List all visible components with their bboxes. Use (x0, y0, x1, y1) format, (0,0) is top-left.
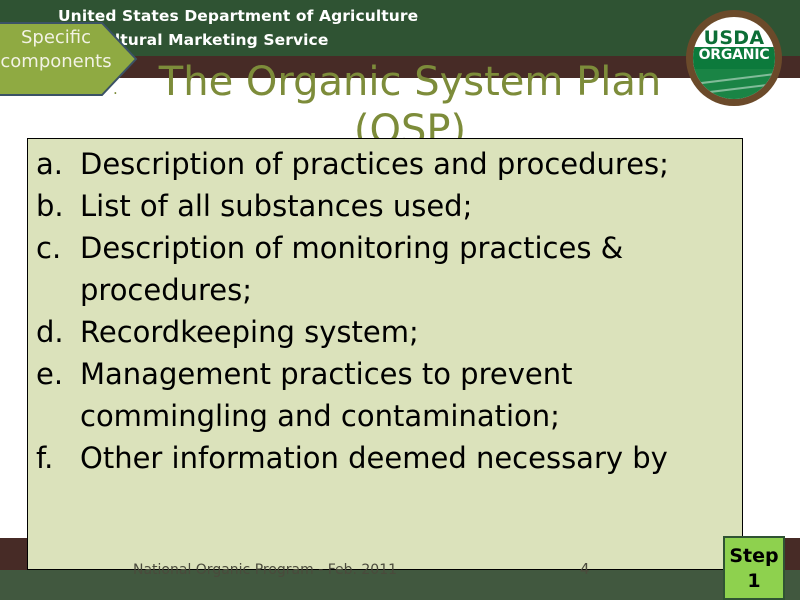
list-marker: b. (36, 185, 80, 227)
seal-inner: USDA ORGANIC (693, 17, 775, 99)
usda-organic-seal-icon: USDA ORGANIC (686, 10, 782, 106)
list-item: e. Management practices to prevent commi… (36, 353, 743, 437)
list-marker: c. (36, 227, 80, 269)
list-marker: a. (36, 143, 80, 185)
list-item: b. List of all substances used; (36, 185, 743, 227)
list-item: d. Recordkeeping system; (36, 311, 743, 353)
agency-line-1: United States Department of Agriculture (58, 4, 678, 28)
list-item-text: List of all substances used; (80, 185, 743, 227)
content-box: a. Description of practices and procedur… (27, 138, 743, 570)
specific-components-callout: Specific components (0, 22, 138, 96)
list-item-text: Other information deemed necessary by (80, 437, 743, 479)
page-title-line-1: The Organic System Plan (110, 58, 710, 106)
osp-components-list: a. Description of practices and procedur… (36, 143, 743, 479)
list-item-text: Description of monitoring practices & pr… (80, 227, 743, 311)
list-marker: d. (36, 311, 80, 353)
step-badge: Step 1 (723, 536, 785, 600)
callout-label: Specific components (0, 26, 120, 74)
list-item: c. Description of monitoring practices &… (36, 227, 743, 311)
seal-usda-text: USDA (693, 27, 775, 49)
seal-organic-text: ORGANIC (693, 47, 775, 63)
agency-line-2: Agricultural Marketing Service (58, 28, 678, 52)
seal-field-lines (693, 69, 775, 99)
list-item-text: Description of practices and procedures; (80, 143, 743, 185)
step-badge-label: Step 1 (729, 544, 779, 594)
list-item-text: Recordkeeping system; (80, 311, 743, 353)
agency-title: United States Department of Agriculture … (58, 4, 678, 52)
list-marker: f. (36, 437, 80, 479)
list-marker: e. (36, 353, 80, 395)
list-item-text: Management practices to prevent commingl… (80, 353, 743, 437)
list-item: a. Description of practices and procedur… (36, 143, 743, 185)
footer-note: National Organic Program - Feb. 2011 (133, 562, 397, 578)
footer-green-band (0, 570, 800, 600)
slide-canvas: United States Department of Agriculture … (0, 0, 800, 600)
list-item: f. Other information deemed necessary by (36, 437, 743, 479)
slide-number: 4 (580, 560, 590, 578)
